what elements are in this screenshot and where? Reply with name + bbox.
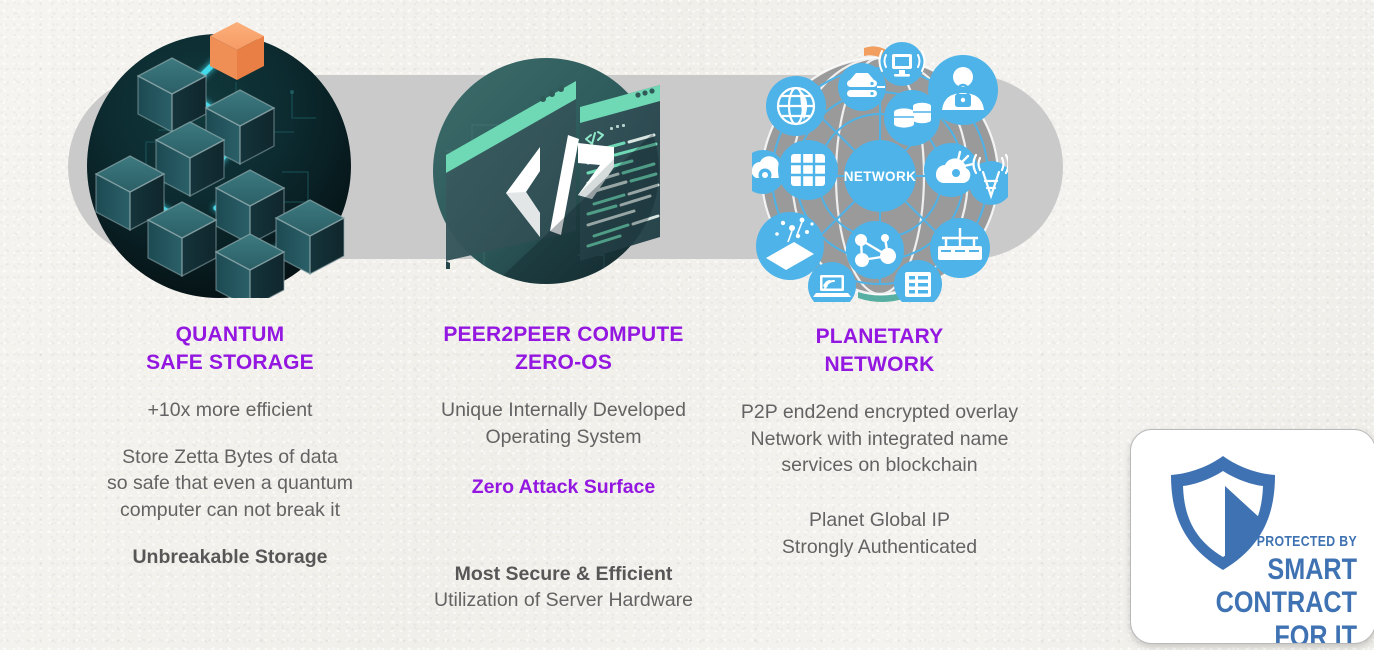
network-nodes-icon: NETWORK	[752, 42, 1008, 302]
server-rack-icon	[838, 63, 886, 111]
grid-globe-icon	[778, 140, 838, 200]
bold-headline: Most Secure & Efficient	[455, 563, 673, 585]
network-switch-icon	[930, 218, 990, 278]
badge-inner: PROTECTED BY SMART CONTRACT FOR IT	[1131, 430, 1374, 643]
badge-text-block: PROTECTED BY SMART CONTRACT FOR IT	[1131, 534, 1357, 644]
slide-stage: NETWORK	[0, 0, 1374, 650]
badge-for-it-label: FOR IT	[1167, 620, 1357, 645]
column-paragraph: +10x more efficient	[80, 397, 380, 424]
database-stack-icon	[884, 90, 940, 146]
share-nodes-icon	[846, 221, 904, 279]
globe-icon	[766, 76, 826, 136]
column-title: PEER2PEER COMPUTE ZERO-OS	[415, 321, 712, 377]
column-peer2peer-compute: PEER2PEER COMPUTE ZERO-OS Unique Interna…	[415, 321, 712, 641]
badge-protected-by-label: PROTECTED BY	[1172, 534, 1357, 551]
smart-contract-badge[interactable]: PROTECTED BY SMART CONTRACT FOR IT	[1130, 429, 1374, 644]
column-paragraph-bold: Unbreakable Storage	[80, 544, 380, 571]
network-center-label: NETWORK	[844, 169, 917, 184]
code-windows-icon	[428, 55, 672, 290]
satellite-dish-icon	[756, 212, 824, 280]
badge-smart-contract-label: SMART CONTRACT	[1167, 553, 1357, 619]
sub-line: Utilization of Server Hardware	[415, 587, 712, 614]
column-quantum-safe-storage: QUANTUM SAFE STORAGE +10x more efficient…	[80, 321, 380, 570]
column-title: PLANETARY NETWORK	[728, 323, 1031, 379]
column-paragraph: Store Zetta Bytes of data so safe that e…	[80, 444, 380, 524]
blockchain-cubes-icon	[86, 22, 356, 298]
column-paragraph-accent: Zero Attack Surface	[415, 474, 712, 501]
column-paragraph: Unique Internally Developed Operating Sy…	[415, 397, 712, 450]
column-paragraph: P2P end2end encrypted overlay Network wi…	[728, 399, 1031, 479]
column-paragraph-bold: Most Secure & Efficient Utilization of S…	[415, 534, 712, 641]
column-planetary-network: PLANETARY NETWORK P2P end2end encrypted …	[728, 323, 1031, 560]
column-paragraph: Planet Global IP Strongly Authenticated	[728, 507, 1031, 560]
column-title: QUANTUM SAFE STORAGE	[80, 321, 380, 377]
